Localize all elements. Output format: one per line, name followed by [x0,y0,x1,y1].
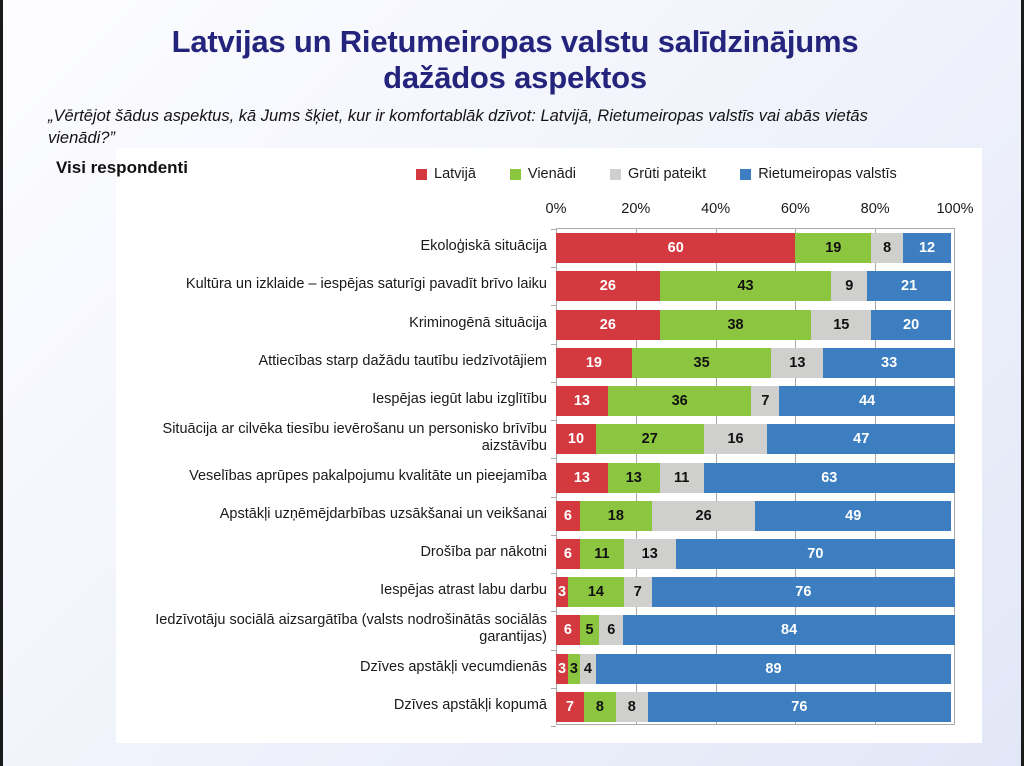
category-label: Iedzīvotāju sociālā aizsargātība (valsts… [123,610,547,648]
y-tick-mark [551,497,556,498]
chart-legend: LatvijāVienādiGrūti pateiktRietumeiropas… [416,162,976,186]
bar-value-label: 7 [761,393,769,409]
bar-value-label: 18 [608,508,624,524]
legend-item[interactable]: Grūti pateikt [610,166,706,182]
y-tick-mark [551,344,556,345]
bar-value-label: 20 [903,317,919,333]
bar-segment-gruti-pateikt[interactable]: 11 [660,463,704,493]
bar-segment-latvija[interactable]: 7 [556,692,584,722]
bar-value-label: 9 [845,278,853,294]
bar-segment-vienadi[interactable]: 13 [608,463,660,493]
bar-segment-rietumeiropa[interactable]: 84 [623,615,955,645]
category-label: Ekoloģiskā situācija [123,228,547,266]
bar-value-label: 4 [584,661,592,677]
category-label: Situācija ar cilvēka tiesību ievērošanu … [123,419,547,457]
bar-segment-rietumeiropa[interactable]: 12 [903,233,951,263]
legend-item[interactable]: Rietumeiropas valstīs [740,166,897,182]
legend-item[interactable]: Latvijā [416,166,476,182]
y-tick-mark [551,382,556,383]
bar-segment-latvija[interactable]: 3 [556,654,568,684]
bar-row[interactable]: 33489 [556,654,955,684]
bar-segment-gruti-pateikt[interactable]: 7 [751,386,779,416]
category-label: Kultūra un izklaide – iespējas saturīgi … [123,266,547,304]
x-tick-label: 80% [861,201,890,217]
bar-segment-vienadi[interactable]: 36 [608,386,752,416]
bar-segment-gruti-pateikt[interactable]: 13 [771,348,823,378]
bar-segment-latvija[interactable]: 6 [556,501,580,531]
bar-row[interactable]: 6111370 [556,539,955,569]
bar-value-label: 49 [845,508,861,524]
bar-value-label: 3 [570,661,578,677]
x-tick-label: 60% [781,201,810,217]
bar-value-label: 36 [672,393,688,409]
y-tick-mark [551,611,556,612]
bar-value-label: 26 [600,317,616,333]
bar-value-label: 13 [789,355,805,371]
bar-row[interactable]: 314776 [556,577,955,607]
page-title-line-2: dažādos aspektos [63,60,967,96]
bar-segment-rietumeiropa[interactable]: 20 [871,310,951,340]
legend-label: Vienādi [528,166,576,182]
bar-value-label: 38 [727,317,743,333]
plot-area: 6019812264392126381520193513331336744102… [556,228,955,725]
y-tick-mark [551,458,556,459]
bar-segment-rietumeiropa[interactable]: 44 [779,386,955,416]
y-tick-mark [551,573,556,574]
legend-label: Rietumeiropas valstīs [758,166,897,182]
bar-value-label: 33 [881,355,897,371]
bar-value-label: 19 [825,240,841,256]
bar-row[interactable]: 2643921 [556,271,955,301]
bar-row[interactable]: 6182649 [556,501,955,531]
category-label: Apstākļi uzņēmējdarbības uzsākšanai un v… [123,496,547,534]
bar-value-label: 13 [574,470,590,486]
bar-value-label: 11 [594,546,609,562]
bar-segment-vienadi[interactable]: 38 [660,310,812,340]
bar-value-label: 6 [564,508,572,524]
bar-value-label: 26 [600,278,616,294]
legend-label: Grūti pateikt [628,166,706,182]
bar-value-label: 13 [626,470,642,486]
bar-value-label: 8 [883,240,891,256]
slide-root: Latvijas un Rietumeiropas valstu salīdzi… [0,0,1024,766]
bar-value-label: 27 [642,431,658,447]
bar-value-label: 26 [696,508,712,524]
bar-value-label: 3 [558,661,566,677]
x-tick-label: 100% [936,201,973,217]
bar-value-label: 3 [558,584,566,600]
bar-value-label: 70 [807,546,823,562]
y-tick-mark [551,650,556,651]
category-label: Veselības aprūpes pakalpojumu kvalitāte … [123,457,547,495]
legend-swatch-icon [610,169,621,180]
legend-swatch-icon [510,169,521,180]
bar-segment-rietumeiropa[interactable]: 76 [652,577,955,607]
bar-row[interactable]: 78876 [556,692,955,722]
bar-segment-gruti-pateikt[interactable]: 8 [616,692,648,722]
bar-segment-vienadi[interactable]: 19 [795,233,871,263]
bar-value-label: 15 [833,317,849,333]
y-tick-mark [551,305,556,306]
bar-value-label: 76 [791,699,807,715]
bar-segment-vienadi[interactable]: 14 [568,577,624,607]
bar-segment-rietumeiropa[interactable]: 21 [867,271,951,301]
category-label: Drošība par nākotni [123,534,547,572]
bar-segment-latvija[interactable]: 6 [556,539,580,569]
bar-segment-latvija[interactable]: 13 [556,463,608,493]
bar-row[interactable]: 19351333 [556,348,955,378]
bar-value-label: 43 [737,278,753,294]
category-label: Iespējas iegūt labu izglītību [123,381,547,419]
bar-value-label: 11 [674,470,689,486]
bar-segment-vienadi[interactable]: 43 [660,271,832,301]
bar-segment-gruti-pateikt[interactable]: 7 [624,577,652,607]
bar-segment-vienadi[interactable]: 27 [596,424,704,454]
bar-value-label: 84 [781,622,797,638]
bar-segment-vienadi[interactable]: 11 [580,539,624,569]
category-axis-labels: Ekoloģiskā situācijaKultūra un izklaide … [116,228,548,725]
bar-segment-vienadi[interactable]: 3 [568,654,580,684]
category-label: Dzīves apstākļi kopumā [123,687,547,725]
bar-segment-latvija[interactable]: 10 [556,424,596,454]
bar-row[interactable]: 1336744 [556,386,955,416]
respondents-label: Visi respondenti [56,158,188,178]
bar-segment-vienadi[interactable]: 8 [584,692,616,722]
bar-segment-rietumeiropa[interactable]: 89 [596,654,951,684]
y-tick-mark [551,688,556,689]
bar-segment-rietumeiropa[interactable]: 49 [755,501,951,531]
bar-row[interactable]: 26381520 [556,310,955,340]
bar-value-label: 6 [564,622,572,638]
legend-swatch-icon [416,169,427,180]
bar-row[interactable]: 65684 [556,615,955,645]
bar-segment-gruti-pateikt[interactable]: 9 [831,271,867,301]
bar-segment-gruti-pateikt[interactable]: 8 [871,233,903,263]
bar-segment-latvija[interactable]: 26 [556,310,660,340]
page-title: Latvijas un Rietumeiropas valstu salīdzi… [63,24,967,96]
bar-segment-gruti-pateikt[interactable]: 6 [599,615,623,645]
bar-segment-vienadi[interactable]: 35 [632,348,772,378]
bar-value-label: 14 [588,584,604,600]
bar-segment-rietumeiropa[interactable]: 47 [767,424,955,454]
bar-value-label: 7 [634,584,642,600]
category-label: Dzīves apstākļi vecumdienās [123,649,547,687]
category-label: Attiecības starp dažādu tautību iedzīvot… [123,343,547,381]
bar-row[interactable]: 6019812 [556,233,955,263]
x-axis-tick-labels: 0%20%40%60%80%100% [556,201,955,223]
bar-segment-rietumeiropa[interactable]: 33 [823,348,955,378]
bar-segment-gruti-pateikt[interactable]: 15 [811,310,871,340]
bar-segment-latvija[interactable]: 26 [556,271,660,301]
y-tick-mark [551,229,556,230]
bar-segment-latvija[interactable]: 60 [556,233,795,263]
x-tick-label: 0% [546,201,567,217]
bar-value-label: 8 [628,699,636,715]
bar-value-label: 6 [607,622,615,638]
bar-row[interactable]: 13131163 [556,463,955,493]
bar-segment-latvija[interactable]: 3 [556,577,568,607]
bar-row[interactable]: 10271647 [556,424,955,454]
bar-value-label: 5 [586,622,594,638]
page-title-line-1: Latvijas un Rietumeiropas valstu salīdzi… [63,24,967,60]
bar-segment-gruti-pateikt[interactable]: 16 [704,424,768,454]
chart-panel: LatvijāVienādiGrūti pateiktRietumeiropas… [116,148,982,743]
bar-value-label: 89 [765,661,781,677]
bar-value-label: 6 [564,546,572,562]
bar-segment-rietumeiropa[interactable]: 70 [676,539,955,569]
y-tick-mark [551,267,556,268]
bar-value-label: 19 [586,355,602,371]
bar-value-label: 60 [668,240,684,256]
bar-segment-gruti-pateikt[interactable]: 26 [652,501,756,531]
bar-value-label: 35 [694,355,710,371]
bar-value-label: 13 [574,393,590,409]
bar-value-label: 10 [568,431,584,447]
bar-value-label: 16 [727,431,743,447]
bar-value-label: 76 [795,584,811,600]
bar-segment-gruti-pateikt[interactable]: 13 [624,539,676,569]
legend-item[interactable]: Vienādi [510,166,576,182]
bar-value-label: 47 [853,431,869,447]
y-tick-mark [551,726,556,727]
bar-segment-vienadi[interactable]: 5 [580,615,600,645]
bar-value-label: 21 [901,278,917,294]
bar-value-label: 13 [642,546,658,562]
bar-segment-gruti-pateikt[interactable]: 4 [580,654,596,684]
bar-value-label: 44 [859,393,875,409]
bar-value-label: 8 [596,699,604,715]
x-tick-label: 20% [621,201,650,217]
legend-label: Latvijā [434,166,476,182]
category-label: Iespējas atrast labu darbu [123,572,547,610]
y-tick-mark [551,535,556,536]
bar-value-label: 12 [919,240,935,256]
bar-segment-latvija[interactable]: 6 [556,615,580,645]
bar-segment-latvija[interactable]: 13 [556,386,608,416]
bar-segment-vienadi[interactable]: 18 [580,501,652,531]
bar-segment-rietumeiropa[interactable]: 76 [648,692,951,722]
bar-value-label: 7 [566,699,574,715]
category-label: Kriminogēnā situācija [123,304,547,342]
legend-swatch-icon [740,169,751,180]
bar-segment-latvija[interactable]: 19 [556,348,632,378]
bar-segment-rietumeiropa[interactable]: 63 [704,463,955,493]
subtitle-quote: „Vērtējot šādus aspektus, kā Jums šķiet,… [48,105,938,150]
y-tick-mark [551,420,556,421]
x-tick-label: 40% [701,201,730,217]
bar-value-label: 63 [821,470,837,486]
